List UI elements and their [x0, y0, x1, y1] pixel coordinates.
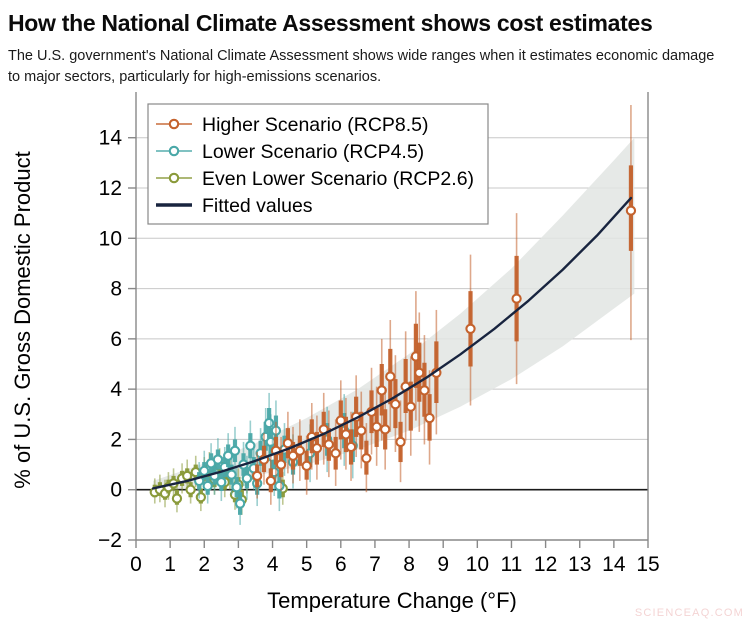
- y-tick-label: 4: [110, 378, 122, 401]
- x-axis-title: Temperature Change (°F): [267, 588, 517, 612]
- x-tick-label: 14: [602, 553, 626, 576]
- data-point: [342, 430, 350, 438]
- data-point: [391, 400, 399, 408]
- legend-item-label: Even Lower Scenario (RCP2.6): [202, 168, 474, 190]
- legend-marker-icon: [170, 174, 178, 182]
- x-tick-label: 4: [267, 553, 279, 576]
- page-subtitle: The U.S. government's National Climate A…: [8, 46, 718, 88]
- data-point: [396, 438, 404, 446]
- y-axis-title: % of U.S. Gross Domestic Product: [10, 151, 35, 488]
- x-tick-label: 9: [437, 553, 449, 576]
- legend-marker-icon: [170, 147, 178, 155]
- data-point: [466, 325, 474, 333]
- x-tick-label: 11: [501, 553, 523, 576]
- y-tick-label: 0: [110, 479, 122, 502]
- data-point: [325, 440, 333, 448]
- scatter-plot: −2024681012140123456789101112131415Tempe…: [0, 92, 754, 612]
- data-point: [197, 493, 205, 501]
- x-tick-label: 7: [369, 553, 381, 576]
- data-point: [420, 386, 428, 394]
- data-point: [187, 486, 195, 494]
- data-point: [347, 443, 355, 451]
- y-axis-ticks: −202468101214: [98, 127, 136, 552]
- data-point: [303, 462, 311, 470]
- x-tick-label: 15: [636, 553, 659, 576]
- legend-item-label: Fitted values: [202, 195, 313, 217]
- chart-container: −2024681012140123456789101112131415Tempe…: [0, 92, 754, 612]
- data-point: [332, 449, 340, 457]
- x-tick-label: 5: [301, 553, 313, 576]
- data-point: [277, 460, 285, 468]
- data-point: [381, 425, 389, 433]
- data-point: [275, 482, 283, 490]
- y-tick-label: 8: [110, 278, 122, 301]
- data-point: [173, 494, 181, 502]
- data-point: [373, 423, 381, 431]
- data-point: [386, 372, 394, 380]
- x-tick-label: 2: [198, 553, 210, 576]
- legend-item-label: Higher Scenario (RCP8.5): [202, 114, 429, 136]
- data-point: [265, 419, 273, 427]
- data-point: [296, 447, 304, 455]
- data-point: [231, 447, 239, 455]
- y-tick-label: 14: [99, 127, 123, 150]
- data-point: [415, 369, 423, 377]
- y-tick-label: −2: [98, 529, 122, 552]
- data-point: [362, 454, 370, 462]
- legend: Higher Scenario (RCP8.5)Lower Scenario (…: [148, 104, 488, 224]
- data-point: [267, 477, 275, 485]
- y-tick-label: 2: [110, 428, 122, 451]
- x-axis-ticks: 0123456789101112131415: [130, 540, 660, 576]
- x-tick-label: 13: [568, 553, 591, 576]
- data-point: [512, 295, 520, 303]
- data-point: [243, 474, 251, 482]
- y-tick-label: 6: [110, 328, 122, 351]
- legend-item[interactable]: Even Lower Scenario (RCP2.6): [156, 168, 474, 190]
- legend-item-label: Lower Scenario (RCP4.5): [202, 141, 424, 163]
- page-title: How the National Climate Assessment show…: [8, 10, 748, 36]
- data-point: [236, 499, 244, 507]
- legend-marker-icon: [170, 120, 178, 128]
- y-tick-label: 12: [99, 177, 122, 200]
- data-point: [253, 472, 261, 480]
- data-point: [313, 444, 321, 452]
- x-tick-label: 6: [335, 553, 347, 576]
- x-tick-label: 10: [466, 553, 489, 576]
- x-tick-label: 8: [403, 553, 415, 576]
- watermark: SCIENCEAQ.COM: [635, 607, 744, 619]
- x-tick-label: 3: [233, 553, 245, 576]
- y-tick-label: 10: [99, 227, 122, 250]
- data-point: [357, 427, 365, 435]
- data-point: [627, 207, 635, 215]
- data-point: [407, 403, 415, 411]
- data-point: [204, 482, 212, 490]
- x-tick-label: 12: [534, 553, 557, 576]
- data-point: [284, 439, 292, 447]
- x-tick-label: 0: [130, 553, 142, 576]
- chart-page: How the National Climate Assessment show…: [0, 0, 754, 627]
- x-tick-label: 1: [164, 553, 176, 576]
- data-point: [425, 414, 433, 422]
